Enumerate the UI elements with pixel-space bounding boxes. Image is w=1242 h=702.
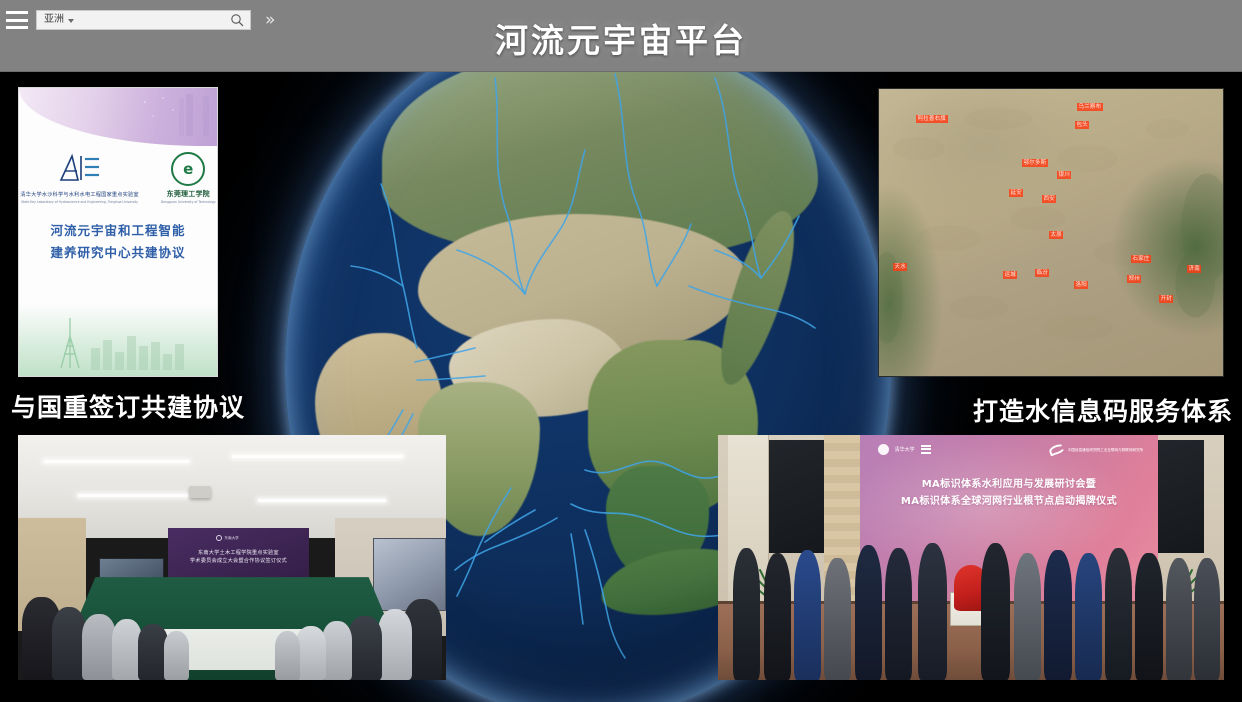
participant — [1166, 558, 1192, 681]
backdrop-university-logo: 东南大学 — [216, 535, 260, 542]
participant — [794, 550, 821, 680]
lab-logo-icon — [55, 150, 105, 184]
map-label: 延安 — [1009, 189, 1023, 197]
ceiling-light — [258, 499, 386, 502]
cover-building — [151, 342, 160, 370]
backdrop-line1: 东南大学土木工程学院重点实验室 — [173, 549, 303, 557]
search-icon[interactable] — [226, 11, 248, 29]
map-label: 阿拉善右旗 — [916, 115, 948, 123]
dark-display-panel — [769, 440, 825, 553]
meeting-scene: 东南大学 东南大学土木工程学院重点实验室 学术委员会成立大会暨合作协议签订仪式 — [18, 435, 446, 680]
projection-screen — [373, 538, 446, 612]
map-label: 包头 — [1075, 121, 1089, 129]
lab-bars-icon — [921, 445, 931, 454]
cover-buildings-art — [91, 330, 201, 370]
map-label: 鄂尔多斯 — [1022, 159, 1048, 167]
hamburger-bar — [6, 26, 28, 29]
caption-left: 与国重签订共建协议 — [11, 388, 245, 424]
cover-building — [103, 340, 112, 370]
dgut-logo: e 东莞理工学院 Dongguan University of Technolo… — [161, 152, 216, 204]
ceiling-light — [232, 455, 403, 458]
map-label: 开封 — [1159, 295, 1173, 303]
tsinghua-lab-name-en: State Key Laboratory of Hydroscience and… — [20, 200, 139, 204]
participant — [764, 553, 791, 680]
search-bar[interactable]: 亚洲 — [36, 10, 251, 30]
backdrop-banner-text: 东南大学土木工程学院重点实验室 学术委员会成立大会暨合作协议签订仪式 — [173, 549, 303, 565]
dgut-name-cn: 东莞理工学院 — [161, 190, 216, 199]
map-label: 运城 — [1003, 271, 1017, 279]
map-label: 银川 — [1057, 171, 1071, 179]
backdrop-logo-label: 东南大学 — [224, 536, 238, 541]
participant — [981, 543, 1010, 680]
attendee — [378, 609, 412, 680]
backdrop-logo-row-left: 清华大学 — [878, 444, 931, 455]
region-select-value: 亚洲 — [44, 14, 64, 26]
cover-skyline-art — [133, 92, 211, 136]
caict-swoosh-icon — [1048, 443, 1066, 457]
meeting-photo-card[interactable]: 东南大学 东南大学土木工程学院重点实验室 学术委员会成立大会暨合作协议签订仪式 — [18, 435, 446, 680]
hamburger-bar — [6, 19, 28, 22]
attendee — [348, 616, 382, 680]
participant — [918, 543, 947, 680]
agreement-title-line2: 建养研究中心共建协议 — [29, 242, 207, 264]
map-label: 乌兰察布 — [1077, 103, 1103, 111]
cover-building — [163, 354, 172, 370]
river-map-card[interactable]: 阿拉善右旗 乌兰察布 包头 鄂尔多斯 银川 延安 西安 太原 天水 运城 临汾 … — [878, 88, 1224, 377]
cover-building — [91, 348, 100, 370]
ceremony-banner-line2: MA标识体系全球河网行业根节点启动揭牌仪式 — [878, 493, 1141, 510]
cover-building — [115, 352, 124, 370]
participant — [1075, 553, 1102, 680]
cover-logo-row: 清华大学水沙科学与水利水电工程国家重点实验室 State Key Laborat… — [19, 150, 217, 204]
hamburger-menu-icon[interactable] — [4, 9, 30, 31]
search-input[interactable] — [80, 12, 226, 28]
tsinghua-lab-logo: 清华大学水沙科学与水利水电工程国家重点实验室 State Key Laborat… — [20, 150, 139, 204]
map-label: 太原 — [1049, 231, 1063, 239]
hamburger-bar — [6, 11, 28, 14]
agreement-title: 河流元宇宙和工程智能 建养研究中心共建协议 — [29, 220, 207, 264]
double-chevron-right-icon[interactable]: » — [265, 12, 274, 29]
participant — [885, 548, 912, 680]
attendee — [164, 631, 190, 680]
attendee — [296, 626, 326, 680]
participant — [1135, 553, 1162, 680]
tsinghua-logo-label: 清华大学 — [895, 446, 915, 453]
map-label: 临汾 — [1035, 269, 1049, 277]
cover-building — [127, 336, 136, 370]
dgut-name-en: Dongguan University of Technology — [161, 200, 216, 204]
university-seal-icon — [216, 535, 222, 541]
participant — [1105, 548, 1132, 680]
participant — [1044, 550, 1071, 680]
cover-building — [175, 344, 184, 370]
agreement-title-line1: 河流元宇宙和工程智能 — [29, 220, 207, 242]
dark-display-panel — [1158, 440, 1204, 553]
ceremony-banner-line1: MA标识体系水利应用与发展研讨会暨 — [878, 476, 1141, 493]
agreement-document-card[interactable]: 清华大学水沙科学与水利水电工程国家重点实验室 State Key Laborat… — [18, 87, 218, 377]
region-select[interactable]: 亚洲 — [44, 14, 74, 26]
ceremony-photo-card[interactable]: 清华大学 中国信息通信研究院工业互联网与物联网研究所 MA标识体系水利应用与发展… — [718, 435, 1224, 680]
app-root: 亚洲 » 河流元宇宙平台 — [0, 0, 1242, 702]
chevron-down-icon[interactable] — [68, 19, 74, 23]
participant — [733, 548, 760, 680]
cover-building — [139, 346, 148, 370]
ceiling-light — [44, 460, 190, 463]
map-label: 西安 — [1042, 195, 1056, 203]
caption-right: 打造水信息码服务体系 — [973, 392, 1233, 428]
participant — [1014, 553, 1041, 680]
map-label: 石家庄 — [1131, 255, 1151, 263]
ceiling-light — [78, 494, 189, 497]
backdrop-line2: 学术委员会成立大会暨合作协议签订仪式 — [173, 557, 303, 565]
ceremony-scene: 清华大学 中国信息通信研究院工业互联网与物联网研究所 MA标识体系水利应用与发展… — [718, 435, 1224, 680]
ceremony-banner-text: MA标识体系水利应用与发展研讨会暨 MA标识体系全球河网行业根节点启动揭牌仪式 — [878, 476, 1141, 510]
dgut-logo-glyph: e — [183, 160, 193, 178]
tsinghua-lab-name-cn: 清华大学水沙科学与水利水电工程国家重点实验室 — [20, 192, 139, 199]
backdrop-logo-row-right: 中国信息通信研究院工业互联网与物联网研究所 — [1049, 445, 1143, 454]
participant — [855, 545, 882, 680]
caict-logo-label: 中国信息通信研究院工业互联网与物联网研究所 — [1068, 448, 1143, 453]
map-label: 郑州 — [1127, 275, 1141, 283]
map-label: 济南 — [1187, 265, 1201, 273]
ceiling-projector — [189, 486, 211, 498]
attendee — [275, 631, 301, 680]
cover-tower-icon — [57, 316, 83, 370]
participant — [1194, 558, 1220, 681]
map-label: 洛阳 — [1074, 281, 1088, 289]
tsinghua-seal-icon — [878, 444, 889, 455]
dgut-logo-icon: e — [171, 152, 205, 186]
top-header-bar: 亚洲 » 河流元宇宙平台 — [0, 0, 1242, 72]
header-left-controls: 亚洲 » — [0, 0, 274, 40]
map-label: 天水 — [893, 263, 907, 271]
participant — [824, 558, 850, 681]
attendee — [322, 621, 352, 680]
